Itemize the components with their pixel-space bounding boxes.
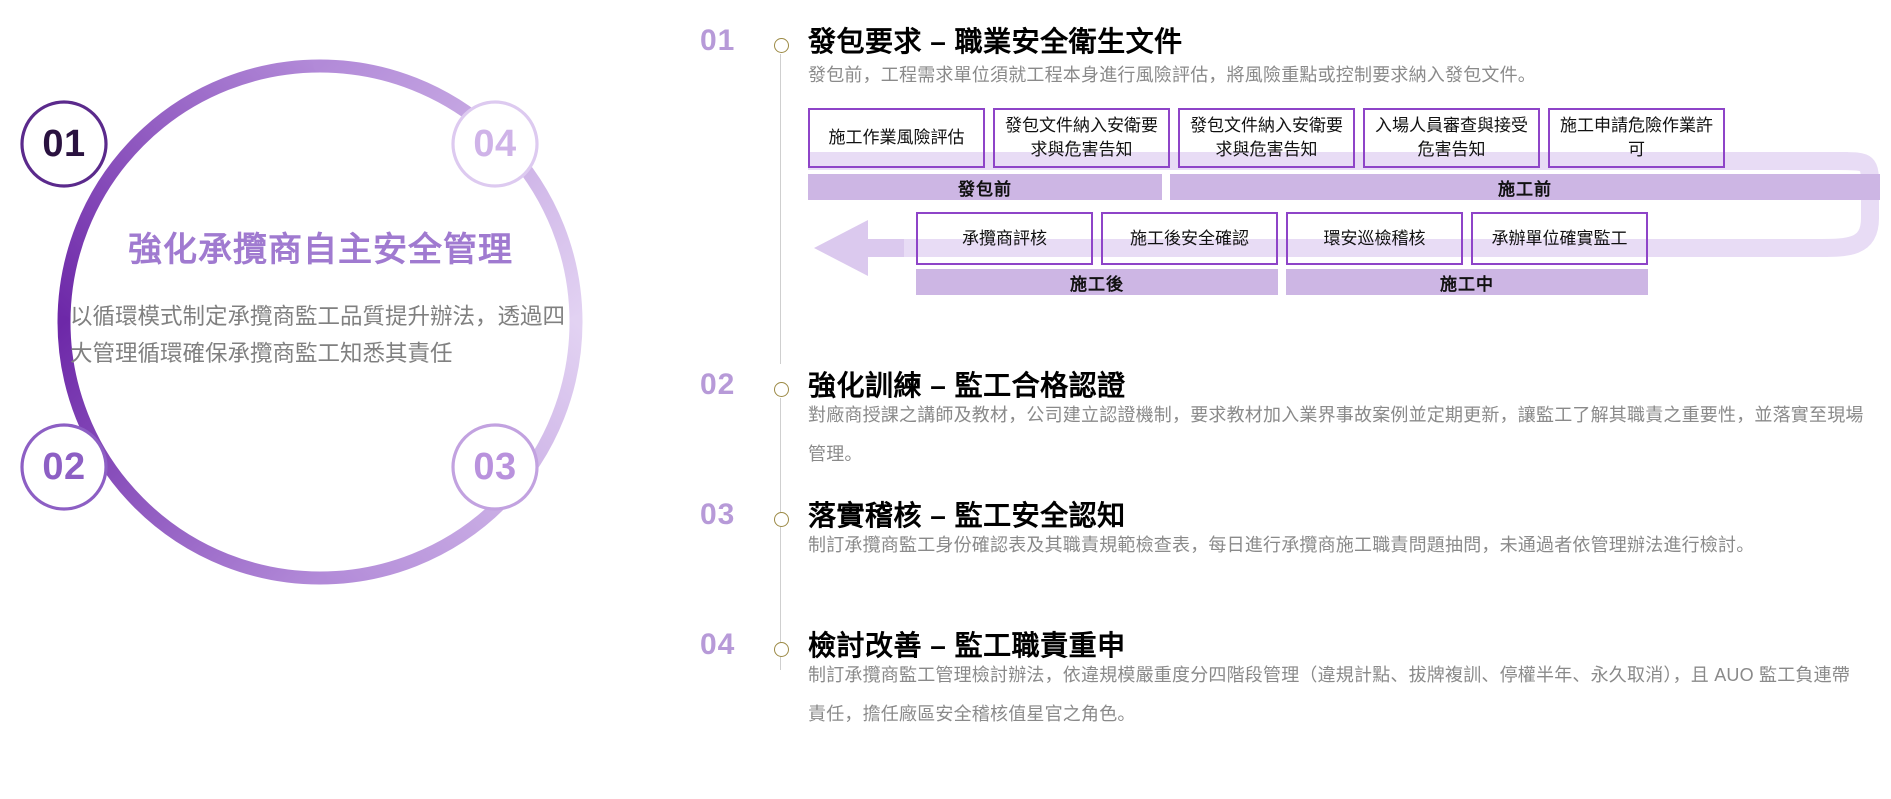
list-item-01-title: 發包要求 – 職業安全衛生文件 <box>808 20 1183 60</box>
flow-row-post: 承攬商評核 施工後安全確認 環安巡檢稽核 承辦單位確實監工 <box>916 212 1648 265</box>
flow-box-label: 入場人員審查與接受危害告知 <box>1369 114 1534 162</box>
cycle-heading: 強化承攬商自主安全管理 <box>58 222 583 271</box>
list-item-01-number: 01 <box>700 24 758 58</box>
cycle-diagram-panel: 01 02 03 04 強化承攬商自主安全管理 以循環模式制定承攬商監工品質提升… <box>0 0 700 799</box>
phase-bar: 施工中 <box>1286 269 1648 295</box>
cycle-ring-graphic <box>0 0 700 799</box>
phase-bar: 發包前 <box>808 174 1162 200</box>
bullet-ring-icon <box>774 642 789 657</box>
flow-box-label: 發包文件納入安衛要求與危害告知 <box>1184 114 1349 162</box>
flow-box[interactable]: 施工申請危險作業許可 <box>1548 108 1725 168</box>
flow-box[interactable]: 施工作業風險評估 <box>808 108 985 168</box>
flow-box[interactable]: 發包文件納入安衛要求與危害告知 <box>1178 108 1355 168</box>
flow-box-label: 施工申請危險作業許可 <box>1554 114 1719 162</box>
flow-box[interactable]: 環安巡檢稽核 <box>1286 212 1463 265</box>
flow-box-label: 承攬商評核 <box>962 227 1047 251</box>
list-item-02-description: 對廠商授課之講師及教材，公司建立認證機制，要求教材加入業界事故案例並定期更新，讓… <box>808 396 1868 474</box>
timeline-rail <box>780 54 781 364</box>
flow-box-label: 環安巡檢稽核 <box>1324 227 1426 251</box>
flow-box[interactable]: 承辦單位確實監工 <box>1471 212 1648 265</box>
list-item-03-description: 制訂承攬商監工身份確認表及其職責規範檢查表，每日進行承攬商施工職責問題抽問，未通… <box>808 526 1868 565</box>
detail-list-panel: 01 發包要求 – 職業安全衛生文件 發包前，工程需求單位須就工程本身進行風險評… <box>700 0 1891 799</box>
phase-bar: 施工前 <box>1170 174 1880 200</box>
flow-box[interactable]: 承攬商評核 <box>916 212 1093 265</box>
flow-box[interactable]: 施工後安全確認 <box>1101 212 1278 265</box>
flow-phase-row-top: 發包前 施工前 <box>808 174 1880 200</box>
flow-box-label: 施工後安全確認 <box>1130 227 1249 251</box>
flow-box-label: 施工作業風險評估 <box>829 126 965 150</box>
bullet-ring-icon <box>774 382 789 397</box>
cycle-subtitle: 以循環模式制定承攬商監工品質提升辦法，透過四大管理循環確保承攬商監工知悉其責任 <box>70 298 570 372</box>
list-item-03-number: 03 <box>700 498 758 532</box>
bullet-ring-icon <box>774 38 789 53</box>
list-item-01-description: 發包前，工程需求單位須就工程本身進行風險評估，將風險重點或控制要求納入發包文件。 <box>808 56 1868 95</box>
flow-box[interactable]: 入場人員審查與接受危害告知 <box>1363 108 1540 168</box>
list-item-04-description: 制訂承攬商監工管理檢討辦法，依違規模嚴重度分四階段管理（違規計點、拔牌複訓、停權… <box>808 656 1868 734</box>
flow-phase-row-bottom: 施工後 施工中 <box>916 269 1648 295</box>
flow-box[interactable]: 發包文件納入安衛要求與危害告知 <box>993 108 1170 168</box>
process-flow-diagram: 施工作業風險評估 發包文件納入安衛要求與危害告知 發包文件納入安衛要求與危害告知… <box>808 108 1880 348</box>
flow-row-pre: 施工作業風險評估 發包文件納入安衛要求與危害告知 發包文件納入安衛要求與危害告知… <box>808 108 1725 168</box>
bullet-ring-icon <box>774 512 789 527</box>
list-item-02-number: 02 <box>700 368 758 402</box>
flow-box-label: 承辦單位確實監工 <box>1492 227 1628 251</box>
list-item-04-number: 04 <box>700 628 758 662</box>
phase-bar: 施工後 <box>916 269 1278 295</box>
flow-box-label: 發包文件納入安衛要求與危害告知 <box>999 114 1164 162</box>
slide-root: 01 02 03 04 強化承攬商自主安全管理 以循環模式制定承攬商監工品質提升… <box>0 0 1891 799</box>
